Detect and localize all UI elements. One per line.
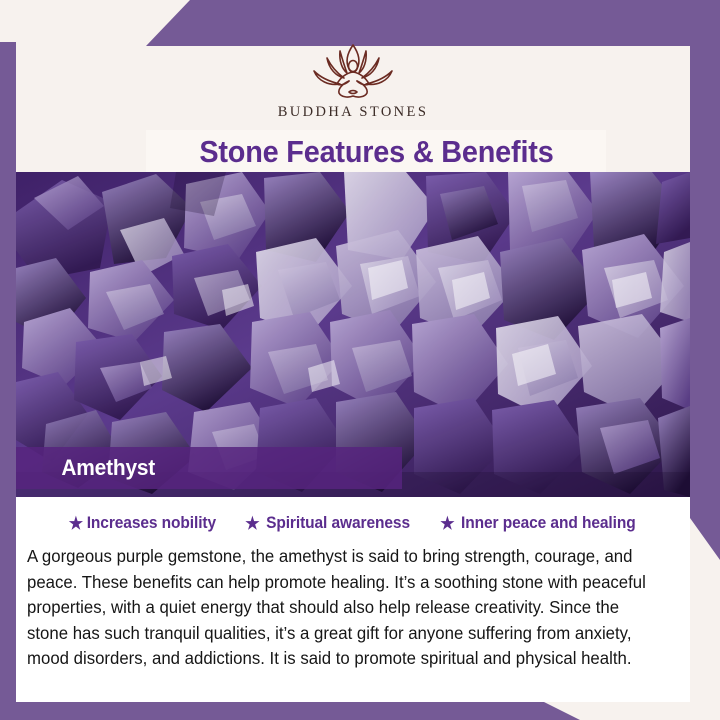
benefits-list: ★ Increases nobility ★ Spiritual awarene…	[16, 497, 690, 533]
page-title: Stone Features & Benefits	[199, 134, 553, 170]
product-feature-card: BUDDHA STONES Stone Features & Benefits	[0, 0, 720, 720]
benefit-item-0: ★ Increases nobility	[69, 514, 216, 533]
product-label-banner: Amethyst	[16, 447, 402, 489]
frame-accent-bottom	[0, 700, 720, 720]
card-body: BUDDHA STONES Stone Features & Benefits	[16, 46, 690, 702]
title-banner: Stone Features & Benefits	[146, 130, 606, 174]
star-icon: ★	[440, 515, 454, 532]
content-panel: ★ Increases nobility ★ Spiritual awarene…	[16, 497, 690, 702]
brand-logo-block: BUDDHA STONES	[16, 46, 690, 128]
benefit-label-2: Inner peace and healing	[461, 514, 636, 533]
lotus-meditation-icon	[294, 40, 412, 102]
star-icon: ★	[245, 515, 259, 532]
star-icon: ★	[69, 515, 83, 532]
product-label: Amethyst	[20, 455, 156, 481]
product-image: Amethyst	[16, 172, 690, 497]
benefit-label-1: Spiritual awareness	[266, 514, 410, 533]
frame-accent-right	[690, 0, 720, 560]
benefit-item-2: ★ Inner peace and healing	[440, 514, 635, 533]
benefit-label-0: Increases nobility	[87, 514, 216, 533]
frame-accent-left	[0, 42, 16, 720]
brand-wordmark: BUDDHA STONES	[278, 104, 429, 121]
benefit-item-1: ★ Spiritual awareness	[245, 514, 410, 533]
product-description: A gorgeous purple gemstone, the amethyst…	[27, 544, 656, 672]
